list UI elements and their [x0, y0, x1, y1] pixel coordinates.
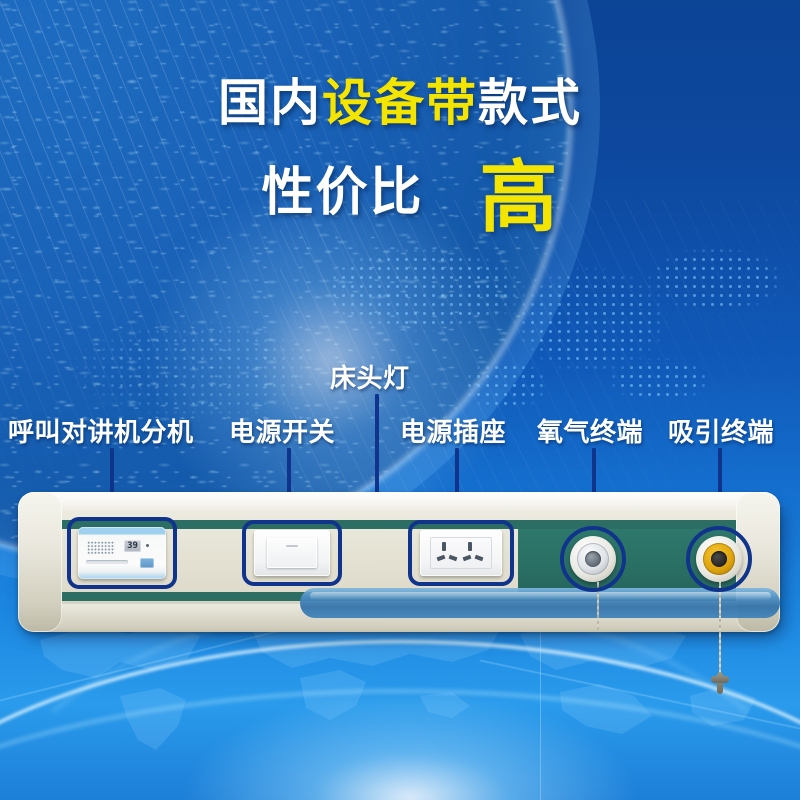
callout-label-bed-lamp: 床头灯: [330, 358, 410, 395]
suction-pull-cord: [719, 580, 721, 676]
socket-pin-b1: [468, 542, 472, 551]
speaker-grille-icon: [87, 541, 115, 554]
panel-endcap-left: [18, 492, 62, 632]
socket-pin-a1: [442, 542, 446, 551]
socket-pin-a2: [437, 555, 446, 561]
callout-label-power-socket: 电源插座: [400, 412, 506, 449]
power-light-switch[interactable]: [254, 530, 330, 576]
switch-rocker[interactable]: [267, 538, 317, 568]
oxygen-pull-cord: [597, 582, 599, 630]
intercom-call-button[interactable]: [140, 558, 154, 568]
socket-faceplate: [430, 537, 492, 569]
socket-pin-b2: [463, 555, 472, 561]
intercom-display: 39: [124, 540, 141, 552]
socket-pin-b3: [475, 555, 484, 561]
suction-terminal-outlet[interactable]: [696, 536, 742, 582]
callout-label-oxygen-outlet: 氧气终端: [537, 412, 643, 449]
oxygen-port-hub[interactable]: [585, 551, 601, 567]
suction-port-hub[interactable]: [711, 551, 727, 567]
switch-marking: [286, 545, 298, 547]
callout-layer: 呼叫对讲机分机 电源开关 床头灯 电源插座 氧气终端 吸引终端: [0, 0, 800, 800]
pull-cord-handle-bar[interactable]: [711, 676, 729, 683]
handrail-gloss: [310, 592, 771, 600]
intercom-led-icon: [146, 544, 149, 547]
socket-pin-a3: [449, 555, 458, 561]
promo-banner: 国内设备带款式 性价比 高 呼叫对讲机分机 电源开关 床头灯 电源插座 氧气终端…: [0, 0, 800, 800]
callout-label-power-switch: 电源开关: [229, 412, 335, 449]
panel-top-highlight: [18, 492, 780, 512]
callout-label-nurse-call: 呼叫对讲机分机: [8, 412, 194, 449]
nurse-call-intercom[interactable]: 39: [78, 527, 166, 579]
panel-handrail: [300, 588, 780, 618]
oxygen-terminal-outlet[interactable]: [570, 536, 616, 582]
intercom-slot: [86, 560, 128, 564]
power-socket-outlet[interactable]: [420, 530, 502, 576]
callout-label-suction-outlet: 吸引终端: [668, 412, 774, 449]
